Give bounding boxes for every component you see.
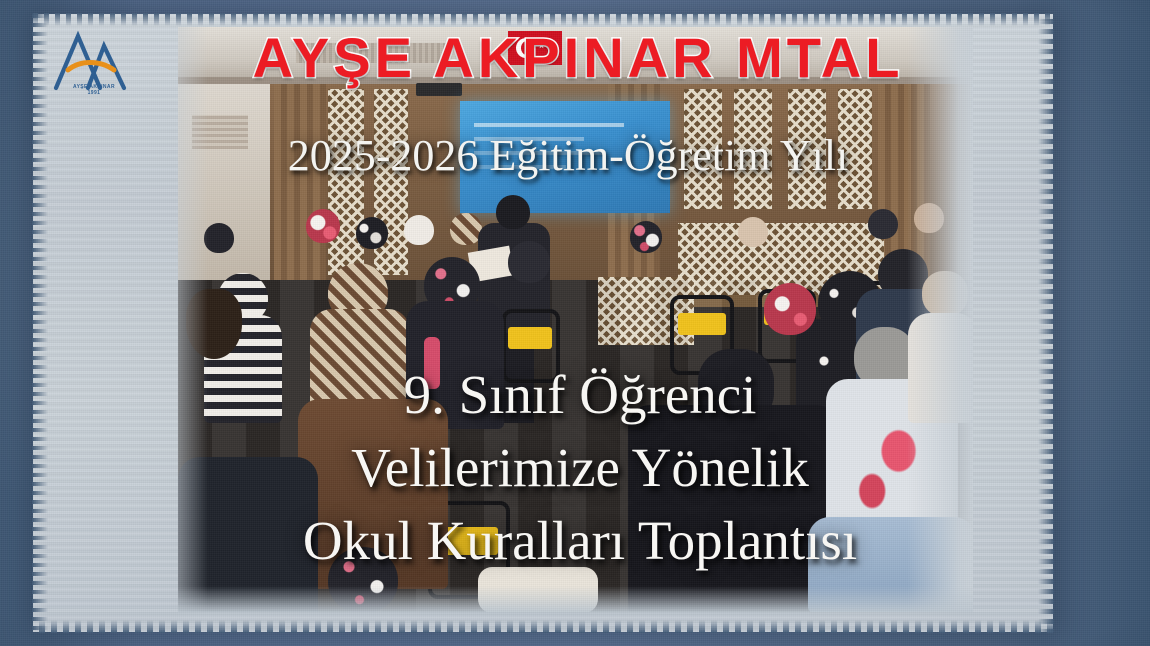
poster-canvas: AYŞE AKPINAR 1991 AYŞE AKPINAR MTAL 2025… bbox=[0, 0, 1150, 646]
lattice-panel bbox=[328, 89, 364, 275]
audience-head-scarf bbox=[630, 221, 662, 253]
event-title-line-1: 9. Sınıf Öğrenci bbox=[80, 358, 1080, 431]
audience-head bbox=[204, 223, 234, 253]
paper-deckle-bottom bbox=[33, 620, 1053, 633]
event-title-line-2: Velilerimize Yönelik bbox=[80, 431, 1080, 504]
academic-year-subtitle: 2025-2026 Eğitim-Öğretim Yılı bbox=[128, 131, 1008, 181]
audience-head-scarf bbox=[356, 217, 388, 249]
photo-bottom-fade bbox=[178, 586, 973, 612]
event-title: 9. Sınıf Öğrenci Velilerimize Yönelik Ok… bbox=[80, 358, 1080, 577]
presenter-head bbox=[496, 195, 530, 229]
wood-column bbox=[274, 84, 326, 280]
paper-deckle-left bbox=[32, 14, 48, 632]
paper-deckle-top bbox=[33, 13, 1053, 26]
logo-caption: AYŞE AKPINAR 1991 bbox=[48, 84, 140, 96]
audience-head bbox=[508, 241, 550, 283]
school-name-title: AYŞE AKPINAR MTAL bbox=[138, 28, 1018, 88]
audience-head-scarf bbox=[306, 209, 340, 243]
audience-head-scarf bbox=[764, 283, 816, 335]
logo-caption-line2: 1991 bbox=[88, 90, 101, 96]
audience-head bbox=[404, 215, 434, 245]
audience-head bbox=[738, 217, 768, 247]
ayse-akpinar-mtal-logo: AYŞE AKPINAR 1991 bbox=[48, 26, 140, 98]
audience-head bbox=[868, 209, 898, 239]
event-title-line-3: Okul Kuralları Toplantısı bbox=[80, 504, 1080, 577]
